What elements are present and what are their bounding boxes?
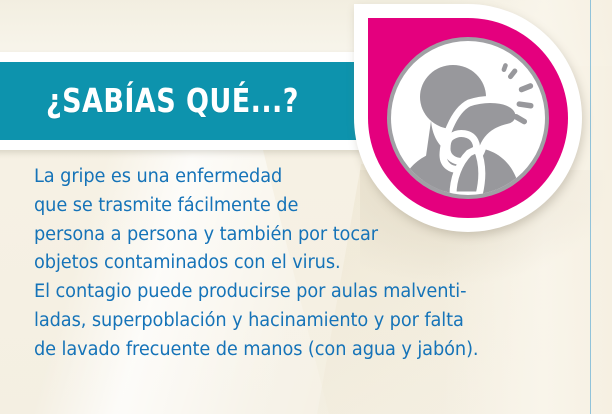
body-line: El contagio puede producirse por aulas m… [34,278,572,307]
body-line: La gripe es una enfermedad [34,163,572,192]
poster-canvas: ¿SABÍAS QUÉ...? [0,0,612,414]
body-line: objetos contaminados con el virus. [34,249,572,278]
body-line: ladas, superpoblación y hacinamiento y p… [34,307,572,336]
body-text: La gripe es una enfermedad que se trasmi… [34,163,572,365]
page-title: ¿SABÍAS QUÉ...? [46,72,292,130]
body-line: persona a persona y también por tocar [34,221,572,250]
body-line: de lavado frecuente de manos (con agua y… [34,336,572,365]
right-vertical-rule [590,0,591,414]
body-line: que se trasmite fácilmente de [34,192,572,221]
